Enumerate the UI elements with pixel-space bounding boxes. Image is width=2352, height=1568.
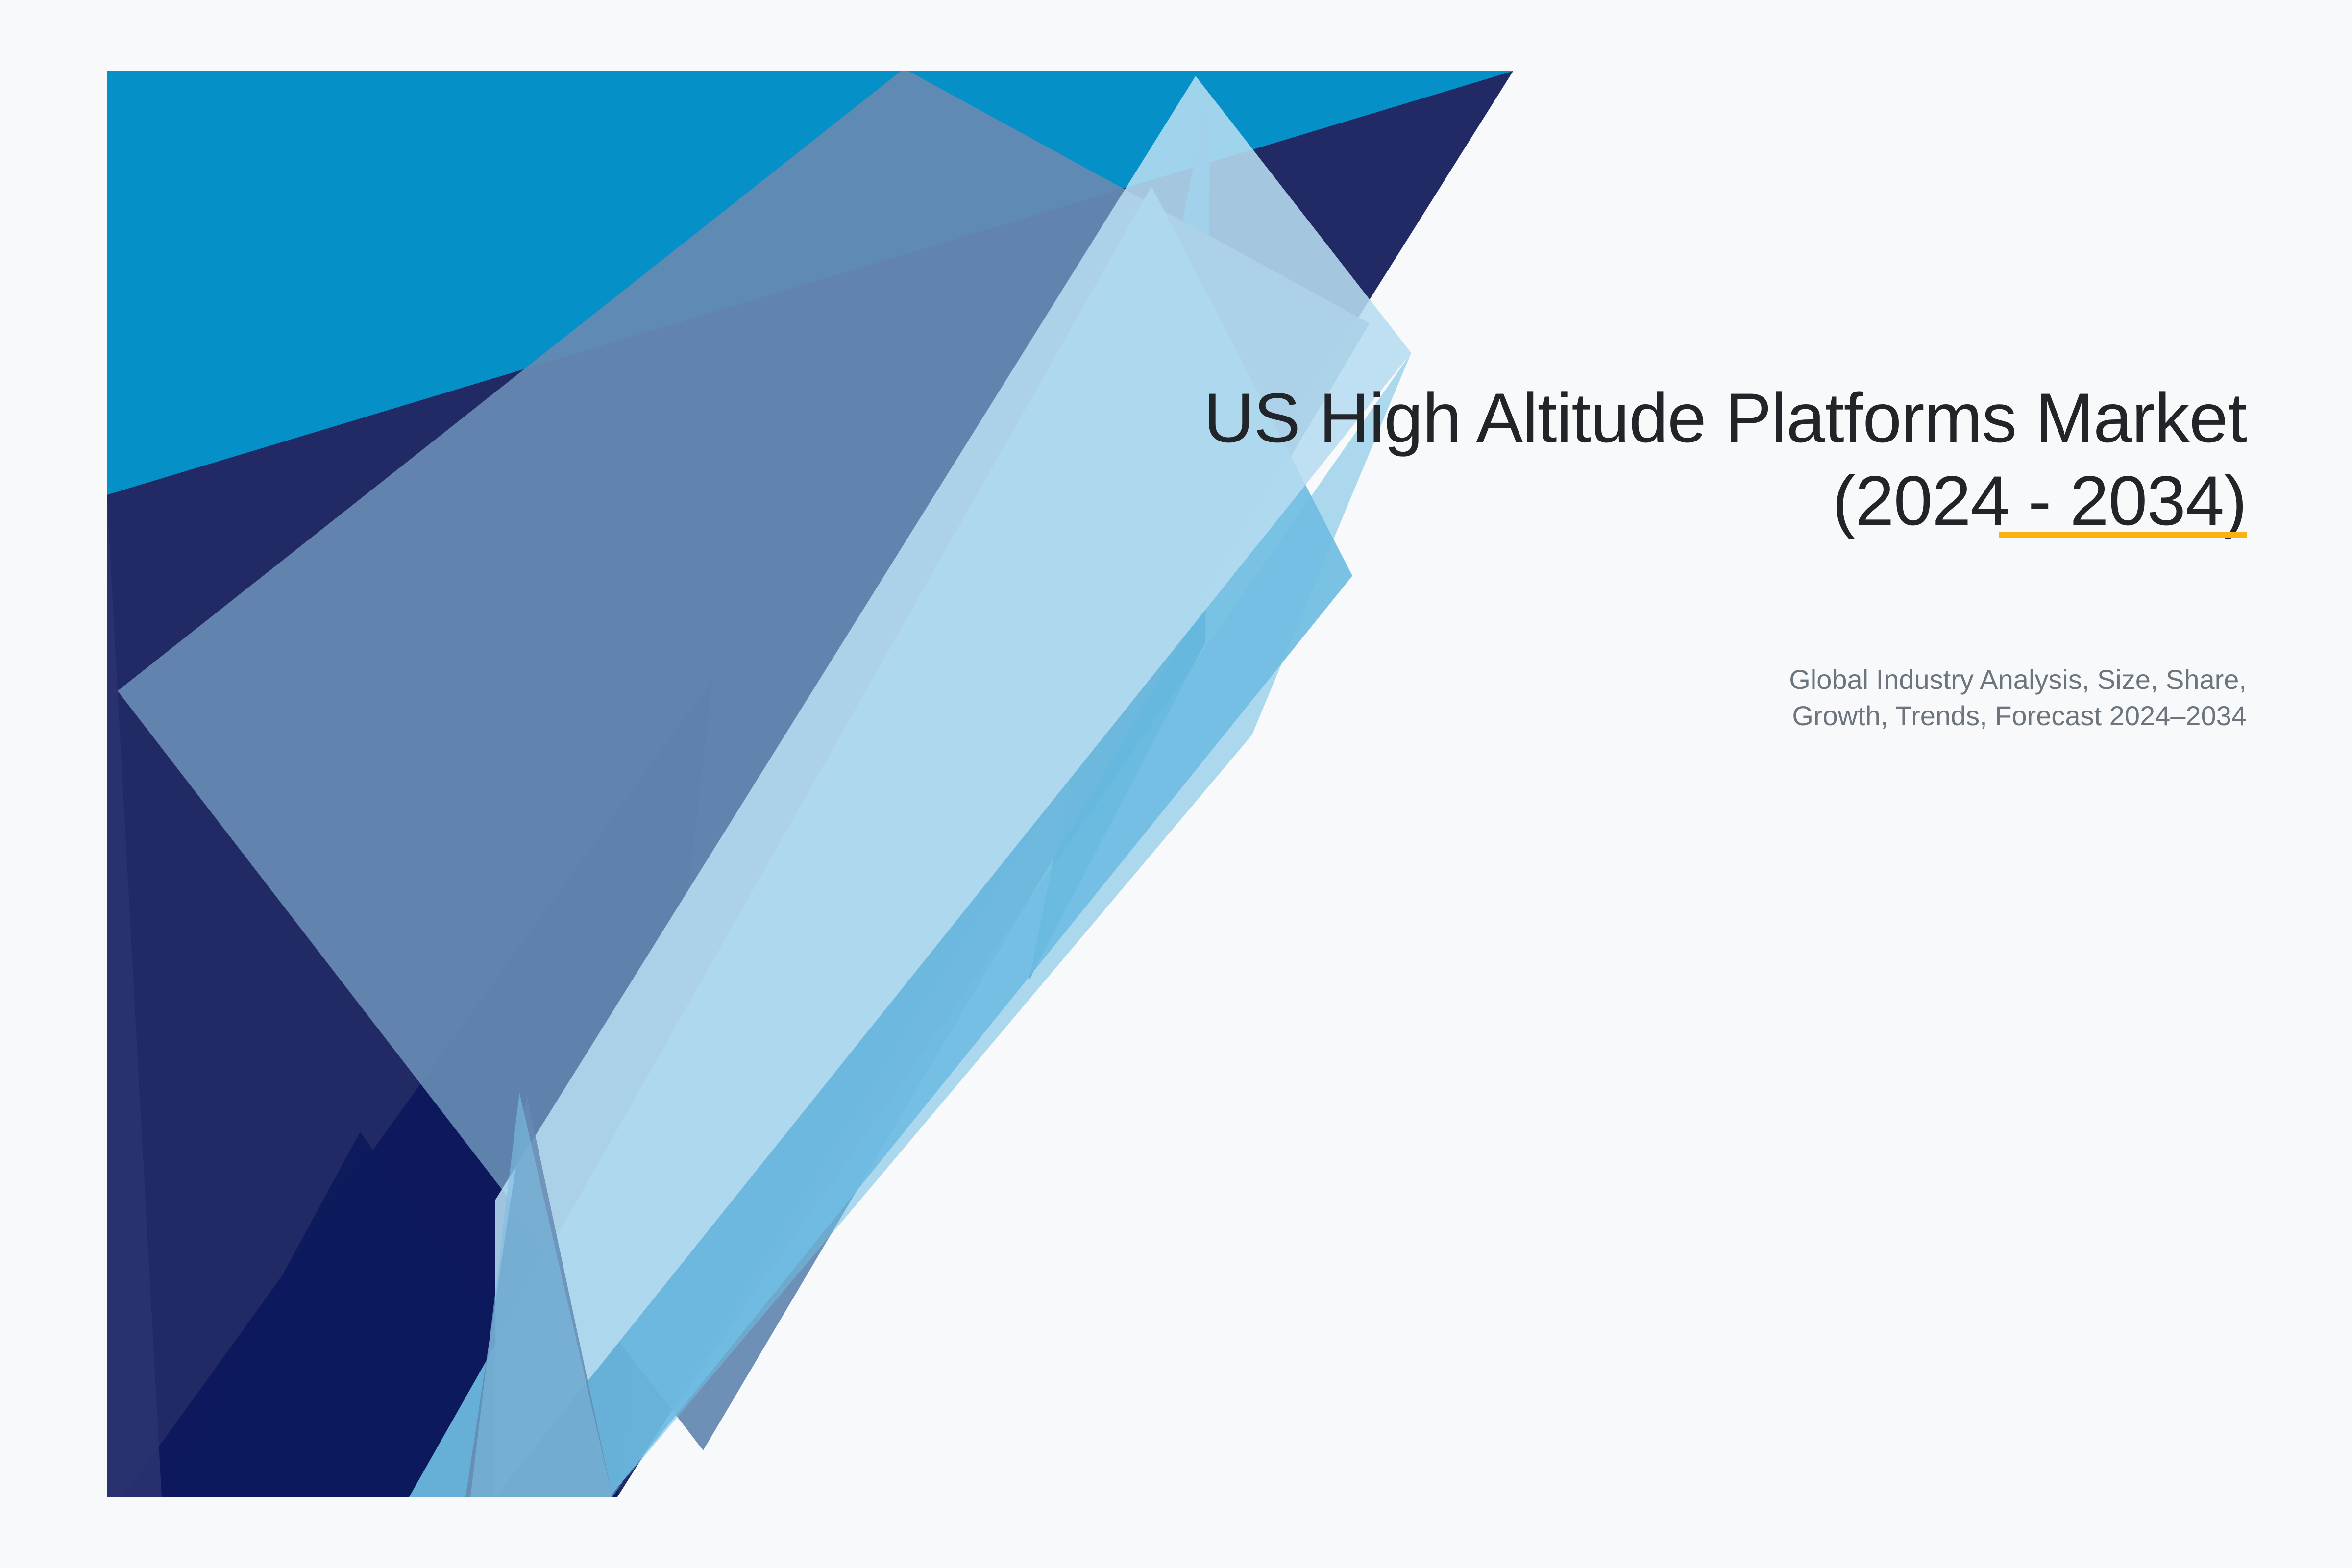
shape-steel-notch bbox=[465, 1095, 612, 1497]
page-title: US High Altitude Platforms Market (2024 … bbox=[899, 377, 2247, 542]
shape-navy-left-sliver bbox=[107, 495, 162, 1497]
shape-navy-band bbox=[107, 71, 1513, 1497]
shape-pale-sweep bbox=[495, 76, 1411, 1497]
shape-steel-overlay bbox=[118, 69, 1370, 1450]
shape-deep-navy-panel bbox=[162, 1132, 617, 1497]
artwork-shapes bbox=[107, 69, 1513, 1497]
shape-deep-navy-wedge bbox=[122, 679, 713, 1497]
page-subtitle: Global Industry Analysis, Size, Share, G… bbox=[1659, 661, 2247, 735]
title-accent-underline bbox=[1999, 532, 2247, 538]
cover-page: US High Altitude Platforms Market (2024 … bbox=[0, 0, 2352, 1568]
shape-sky-vnotch bbox=[470, 1093, 612, 1497]
cover-artwork bbox=[0, 0, 2352, 1568]
shape-cyan-base bbox=[107, 71, 1513, 1497]
title-block: US High Altitude Platforms Market (2024 … bbox=[899, 377, 2247, 542]
